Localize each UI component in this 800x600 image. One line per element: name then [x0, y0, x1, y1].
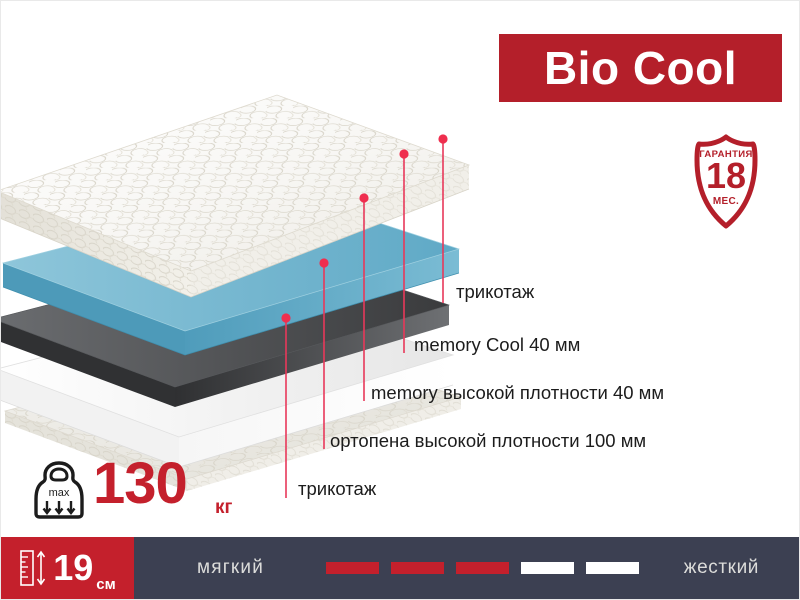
firmness-segment-2	[391, 562, 444, 574]
max-load-unit: кг	[215, 497, 232, 519]
height-box: 19 см	[1, 537, 134, 599]
brand-banner: Bio Cool	[499, 34, 782, 102]
guarantee-value: 18	[679, 158, 773, 194]
layer-label-quilted-knit-top: трикотаж	[456, 281, 534, 303]
bottom-spec-bar: 19 см мягкий жесткий	[1, 537, 799, 599]
firmness-segment-1	[326, 562, 379, 574]
firmness-segment-3	[456, 562, 509, 574]
mattress-illustration	[0, 19, 491, 499]
max-load-value: 130	[93, 455, 187, 513]
brand-name: Bio Cool	[544, 45, 737, 91]
guarantee-shield-badge: ГАРАНТИЯ 18 МЕС.	[679, 134, 773, 230]
firmness-segment-5	[586, 562, 639, 574]
svg-text:max: max	[49, 487, 70, 499]
layer-label-quilted-knit-bottom: трикотаж	[298, 478, 376, 500]
firmness-soft-label: мягкий	[197, 557, 264, 579]
firmness-segment-4	[521, 562, 574, 574]
firmness-scale: мягкий жесткий	[134, 537, 799, 599]
kettlebell-icon: max	[33, 461, 85, 519]
firmness-hard-label: жесткий	[684, 557, 759, 579]
height-unit: см	[96, 576, 115, 593]
layer-label-ortofoam-hd: ортопена высокой плотности 100 мм	[330, 430, 646, 452]
firmness-segments	[326, 562, 639, 574]
product-infographic: Bio Cool ГАРАНТИЯ 18 МЕС. трикотаж memor…	[0, 0, 800, 600]
ruler-height-icon	[19, 548, 49, 588]
max-load-block: max 130 кг	[33, 459, 253, 531]
guarantee-unit: МЕС.	[679, 196, 773, 207]
height-value: 19	[53, 550, 93, 586]
layer-label-memory-cool-foam: memory Cool 40 мм	[414, 334, 580, 356]
layer-label-memory-hd-foam: memory высокой плотности 40 мм	[371, 382, 664, 404]
